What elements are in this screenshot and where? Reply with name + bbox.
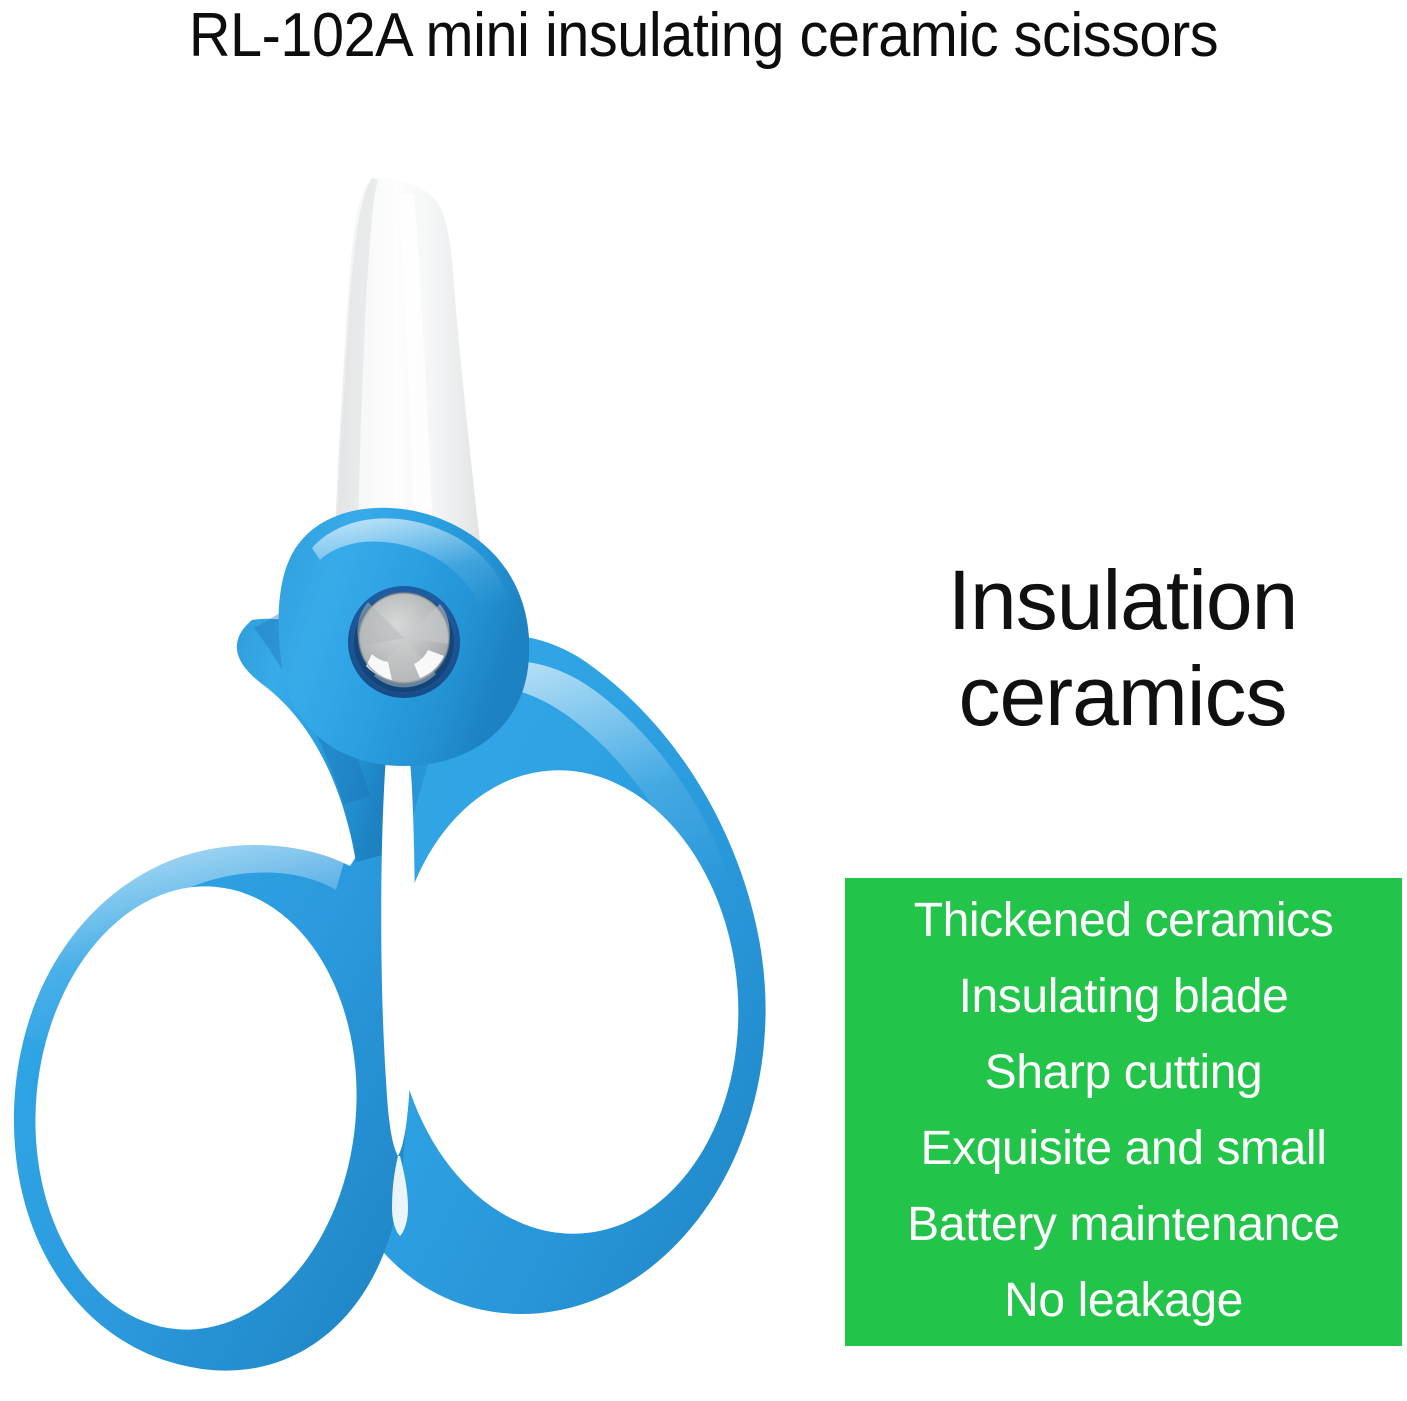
- feature-item-3: Sharp cutting: [845, 1035, 1402, 1111]
- pivot-screw: [348, 586, 460, 698]
- product-infographic-page: RL-102A mini insulating ceramic scissors: [0, 0, 1407, 1401]
- feature-item-5: Battery maintenance: [845, 1187, 1402, 1263]
- feature-item-2: Insulating blade: [845, 959, 1402, 1035]
- page-title: RL-102A mini insulating ceramic scissors: [49, 0, 1358, 72]
- feature-item-4: Exquisite and small: [845, 1111, 1402, 1187]
- feature-item-1: Thickened ceramics: [845, 883, 1402, 959]
- headline-line-1: Insulation: [845, 552, 1400, 648]
- feature-panel: Thickened ceramics Insulating blade Shar…: [845, 878, 1402, 1346]
- feature-item-6: No leakage: [845, 1263, 1402, 1339]
- headline-line-2: ceramics: [845, 648, 1400, 744]
- product-image-scissors: [0, 150, 830, 1400]
- headline: Insulation ceramics: [845, 552, 1400, 744]
- ceramic-blade-group: [334, 178, 482, 568]
